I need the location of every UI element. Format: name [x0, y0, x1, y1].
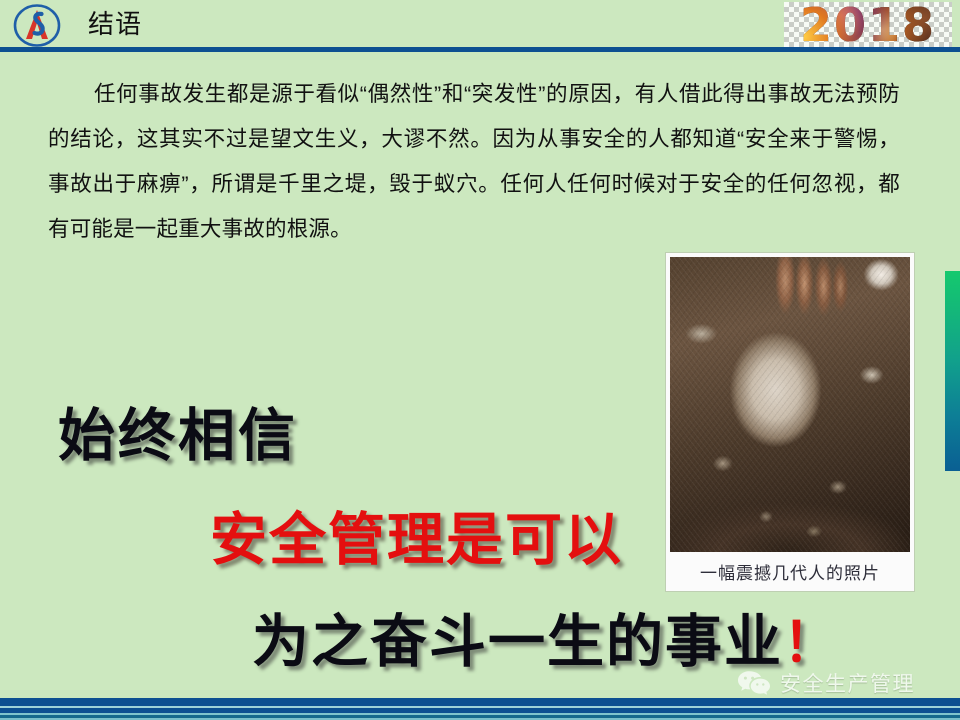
slogan-line-3: 为之奋斗一生的事业！ [252, 596, 839, 678]
watermark: 安全生产管理 [737, 668, 915, 698]
slide-header: 结语 2018 [0, 0, 960, 52]
page-title: 结语 [88, 8, 142, 42]
body-paragraph: 任何事故发生都是源于看似“偶然性”和“突发性”的原因，有人借此得出事故无法预防的… [48, 72, 900, 252]
watermark-label: 安全生产管理 [780, 668, 915, 698]
slide-footer [0, 698, 960, 720]
safety-association-logo-icon [13, 3, 61, 48]
slogan-line-3-text: 为之奋斗一生的事业 [252, 611, 783, 674]
wechat-icon [737, 669, 771, 697]
header-divider [0, 47, 960, 52]
decorative-side-bar [945, 271, 960, 471]
photo-card: 一幅震撼几代人的照片 [666, 253, 914, 591]
slide-canvas: 结语 2018 任何事故发生都是源于看似“偶然性”和“突发性”的原因，有人借此得… [0, 0, 960, 720]
disaster-photo [670, 257, 910, 552]
slogan-line-1: 始终相信 [58, 390, 298, 472]
footer-stripe-1 [0, 698, 960, 706]
slogan-line-2: 安全管理是可以 [210, 494, 623, 576]
year-label: 2018 [784, 2, 952, 48]
photo-grain-overlay [670, 257, 910, 552]
year-badge: 2018 [784, 2, 952, 48]
photo-caption: 一幅震撼几代人的照片 [670, 552, 910, 591]
slogan-exclamation-mark: ！ [783, 613, 839, 673]
